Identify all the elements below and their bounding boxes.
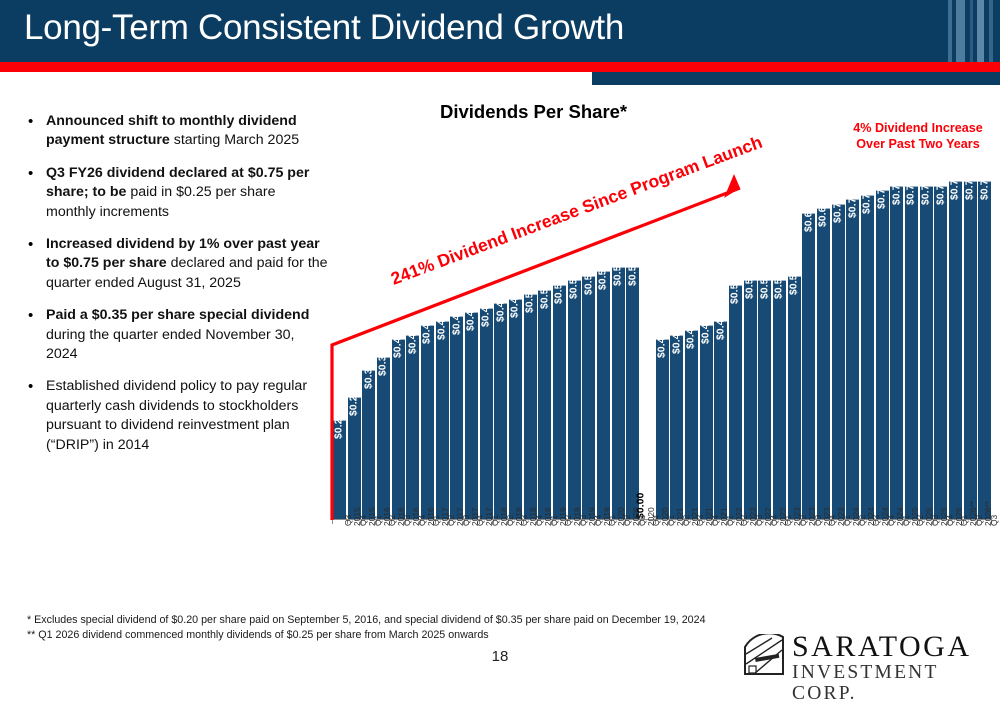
bar-Q12019: $0.51 xyxy=(538,290,551,520)
bar-Q42025: $0.74 xyxy=(934,186,947,520)
bar-value-label: $0.27 xyxy=(349,403,360,416)
logo-line-1: SARATOGA xyxy=(792,632,992,662)
bar-value-label: $0.74 xyxy=(921,192,932,205)
bar-value-label: $0.75 xyxy=(979,187,990,200)
bar-value-label: $0.52 xyxy=(730,291,741,304)
company-logo: SARATOGA INVESTMENT CORP. xyxy=(742,632,992,680)
bar-Q42018: $0.50 xyxy=(524,294,537,520)
bar-Q12021: $0.40 xyxy=(656,339,669,520)
logo-wordmark: SARATOGA INVESTMENT CORP. xyxy=(792,632,992,704)
bar-value-label: $0.50 xyxy=(525,300,536,313)
bar-value-label: $0.56 xyxy=(627,273,638,286)
bar-value-label: $0.40 xyxy=(393,345,404,358)
list-item: • Established dividend policy to pay reg… xyxy=(28,377,328,455)
bar-Q32016: $0.40 xyxy=(392,339,405,520)
bullet-text: Q3 FY26 dividend declared at $0.75 per s… xyxy=(46,164,328,222)
bar-Q42019: $0.54 xyxy=(582,276,595,520)
bar-Q12018: $0.47 xyxy=(480,308,493,520)
bar-value-label: $0.42 xyxy=(686,336,697,349)
list-item: • Increased dividend by 1% over past yea… xyxy=(28,235,328,293)
bar-value-label: $0.69 xyxy=(818,214,829,227)
bar-value-label: $0.41 xyxy=(407,341,418,354)
bar-value-label: $0.48 xyxy=(495,309,506,322)
bar-value-label: $0.70 xyxy=(833,210,844,223)
bar-Q22019: $0.52 xyxy=(553,285,566,520)
bullet-dot: • xyxy=(28,112,46,151)
bar-Q32020: $0.56 xyxy=(626,267,639,520)
bar-value-label: $0.47 xyxy=(481,314,492,327)
bar-value-label: $0.22 xyxy=(334,426,345,439)
bar-value-label: $0.44 xyxy=(715,327,726,340)
bullet-text: Increased dividend by 1% over past year … xyxy=(46,235,328,293)
bullet-dot: • xyxy=(28,306,46,364)
header-accent-stripes xyxy=(940,0,1000,62)
bar-Q12022: $0.44 xyxy=(714,321,727,520)
bar-value-label: $0.55 xyxy=(598,277,609,290)
bar-value-label: $0.54 xyxy=(789,282,800,295)
bar-Q22018: $0.48 xyxy=(494,303,507,520)
bullet-text: Established dividend policy to pay regul… xyxy=(46,377,328,455)
bar-Q32017: $0.45 xyxy=(450,316,463,520)
bar-Q32022: $0.53 xyxy=(744,280,757,520)
header-band: Long-Term Consistent Dividend Growth xyxy=(0,0,1000,62)
bar-Q42016: $0.41 xyxy=(406,335,419,520)
bar-value-label: $0.75 xyxy=(965,187,976,200)
bullet-text: Paid a $0.35 per share special dividend … xyxy=(46,306,328,364)
footnote-2: ** Q1 2026 dividend commenced monthly di… xyxy=(27,628,787,643)
bar-value-label: $0.36 xyxy=(378,363,389,376)
bar-Q12017: $0.43 xyxy=(421,325,434,520)
bar-Q42015: $0.27 xyxy=(348,397,361,520)
list-item: • Announced shift to monthly dividend pa… xyxy=(28,112,328,151)
bar-value-label: $0.46 xyxy=(466,318,477,331)
x-tick-label: Q32026** xyxy=(990,513,1000,526)
bar-Q12025: $0.74 xyxy=(890,186,903,520)
bar-Q22026: $0.75 xyxy=(964,181,977,520)
bar-value-label: $0.73 xyxy=(877,196,888,209)
x-axis-tick-labels: Q32015Q42015Q12016Q22016Q32016Q42016Q120… xyxy=(332,524,992,584)
bar-value-label: $0.68 xyxy=(803,219,814,232)
bar-value-label: $0.53 xyxy=(759,286,770,299)
chart-plot-area: $0.22$0.27$0.33$0.36$0.40$0.41$0.43$0.44… xyxy=(332,160,992,520)
bar-value-label: $0.72 xyxy=(862,201,873,214)
bar-Q32025: $0.74 xyxy=(920,186,933,520)
logo-line-2: INVESTMENT CORP. xyxy=(792,662,992,704)
bar-Q12023: $0.53 xyxy=(773,280,786,520)
footnotes: * Excludes special dividend of $0.20 per… xyxy=(27,613,787,642)
bullet-rest: Established dividend policy to pay regul… xyxy=(46,378,307,452)
bar-value-label: $0.51 xyxy=(539,296,550,309)
bar-Q42017: $0.46 xyxy=(465,312,478,520)
bar-Q42022: $0.53 xyxy=(758,280,771,520)
bar-value-label: $0.49 xyxy=(510,305,521,318)
footnote-1: * Excludes special dividend of $0.20 per… xyxy=(27,613,787,628)
bar-Q22025: $0.74 xyxy=(905,186,918,520)
bar-value-label: $0.53 xyxy=(569,286,580,299)
bullet-dot: • xyxy=(28,235,46,293)
bar-Q42021: $0.43 xyxy=(700,325,713,520)
bar-Q32021: $0.42 xyxy=(685,330,698,520)
bar-value-label: $0.43 xyxy=(422,331,433,344)
bar-value-label: $0.53 xyxy=(745,286,756,299)
bar-Q22016: $0.36 xyxy=(377,357,390,520)
bar-Q22017: $0.44 xyxy=(436,321,449,520)
bar-value-label: $0.74 xyxy=(906,192,917,205)
bar-Q32026: $0.75 xyxy=(978,181,991,520)
bar-Q42024: $0.73 xyxy=(876,190,889,520)
bar-value-label: $0.44 xyxy=(437,327,448,340)
bullet-dot: • xyxy=(28,377,46,455)
page-title: Long-Term Consistent Dividend Growth xyxy=(24,8,624,48)
header-under-band xyxy=(592,72,1000,85)
bar-Q32023: $0.68 xyxy=(802,213,815,520)
bar-value-label: $0.43 xyxy=(701,331,712,344)
saratoga-mark-icon xyxy=(742,634,786,676)
bar-Q32015: $0.22 xyxy=(333,420,346,520)
bar-Q22023: $0.54 xyxy=(788,276,801,520)
list-item: • Paid a $0.35 per share special dividen… xyxy=(28,306,328,364)
red-divider-rule xyxy=(0,62,1000,72)
bar-value-label: $0.41 xyxy=(671,341,682,354)
bullet-text: Announced shift to monthly dividend paym… xyxy=(46,112,328,151)
bar-value-label: $0.40 xyxy=(657,345,668,358)
bar-Q22024: $0.71 xyxy=(846,199,859,520)
dividends-per-share-chart: $0.22$0.27$0.33$0.36$0.40$0.41$0.43$0.44… xyxy=(332,160,992,520)
bar-value-label: $0.45 xyxy=(451,322,462,335)
bar-value-label: $0.71 xyxy=(847,205,858,218)
bar-Q22020: $0.56 xyxy=(612,267,625,520)
bullet-rest: starting March 2025 xyxy=(170,132,299,148)
bar-value-label: $0.53 xyxy=(774,286,785,299)
bar-value-label: $0.74 xyxy=(935,192,946,205)
bar-value-label: $0.54 xyxy=(583,282,594,295)
list-item: • Q3 FY26 dividend declared at $0.75 per… xyxy=(28,164,328,222)
bar-value-label: $0.75 xyxy=(950,187,961,200)
bar-Q32024: $0.72 xyxy=(861,195,874,520)
growth-callout-label: 4% Dividend Increase Over Past Two Years xyxy=(838,120,998,152)
bullet-rest: during the quarter ended November 30, 20… xyxy=(46,327,294,362)
bar-value-label: $0.33 xyxy=(363,376,374,389)
bar-Q12020: $0.55 xyxy=(597,271,610,520)
bar-Q22022: $0.52 xyxy=(729,285,742,520)
bullet-bold: Paid a $0.35 per share special dividend xyxy=(46,307,309,323)
bar-Q12016: $0.33 xyxy=(362,370,375,520)
bar-value-label: $0.56 xyxy=(613,273,624,286)
bar-Q12026: $0.75 xyxy=(949,181,962,520)
bullet-list: • Announced shift to monthly dividend pa… xyxy=(28,112,328,468)
bar-Q12024: $0.70 xyxy=(832,204,845,520)
bar-Q22021: $0.41 xyxy=(670,335,683,520)
bullet-dot: • xyxy=(28,164,46,222)
bar-Q32019: $0.53 xyxy=(568,280,581,520)
bar-Q42023: $0.69 xyxy=(817,208,830,520)
bar-value-label: $0.52 xyxy=(554,291,565,304)
chart-title: Dividends Per Share* xyxy=(440,101,627,123)
bar-value-label: $0.74 xyxy=(891,192,902,205)
bar-Q32018: $0.49 xyxy=(509,299,522,520)
